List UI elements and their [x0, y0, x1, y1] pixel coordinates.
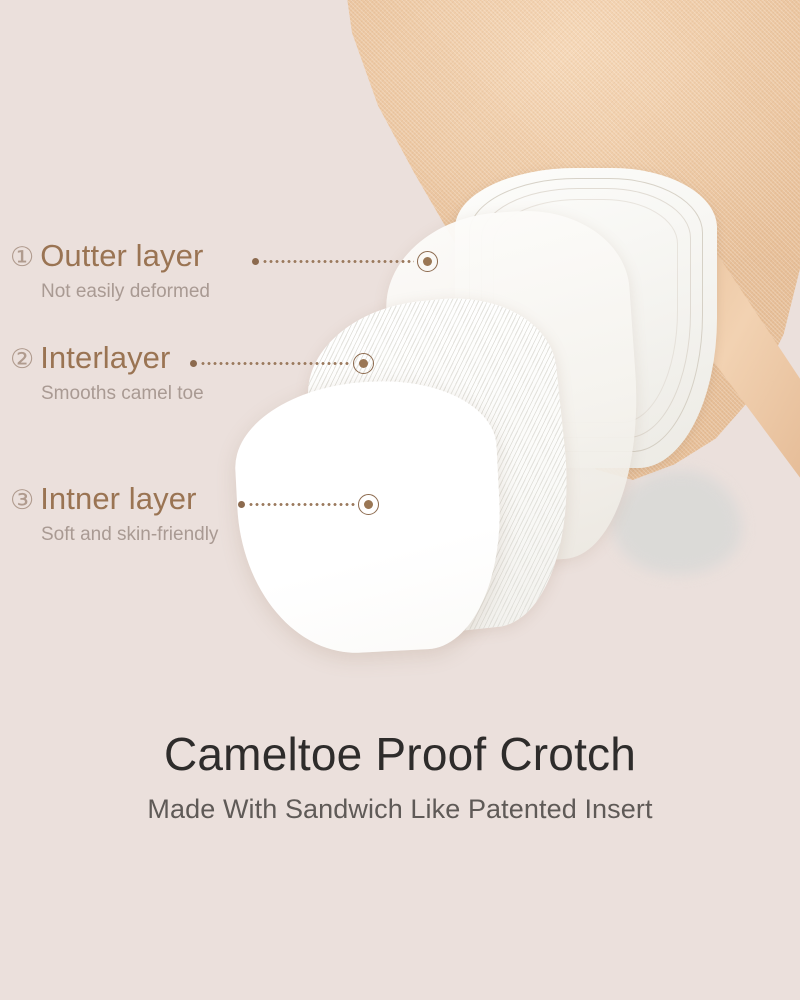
leader-line-interlayer [190, 355, 374, 371]
headline-block: Cameltoe Proof Crotch Made With Sandwich… [0, 728, 800, 825]
leader-line-inner-layer [238, 496, 379, 512]
leader-dotted-line [200, 362, 350, 365]
inner-layer-marker [358, 494, 379, 515]
callout-title-row: ③ Intner layer [10, 481, 218, 517]
interlayer-marker [353, 353, 374, 374]
callout-subtitle-1: Not easily deformed [41, 281, 210, 303]
page-subtitle: Made With Sandwich Like Patented Insert [0, 794, 800, 825]
callout-subtitle-3: Soft and skin-friendly [41, 524, 218, 546]
leader-line-outer-layer [252, 253, 438, 269]
inner-layer-panel [231, 375, 507, 658]
callout-inner-layer: ③ Intner layer Soft and skin-friendly [10, 481, 218, 546]
callout-subtitle-2: Smooths camel toe [41, 383, 204, 405]
callout-number-1: ① [10, 244, 34, 271]
outer-layer-marker [417, 251, 438, 272]
leader-dotted-line [262, 260, 414, 263]
callout-title-1: Outter layer [40, 238, 203, 274]
product-infographic: ① Outter layer Not easily deformed ② Int… [0, 0, 800, 1000]
callout-number-2: ② [10, 346, 34, 373]
callout-title-row: ② Interlayer [10, 340, 204, 376]
leader-dotted-line [248, 503, 355, 506]
callout-title-row: ① Outter layer [10, 238, 210, 274]
callout-interlayer: ② Interlayer Smooths camel toe [10, 340, 204, 405]
callout-title-3: Intner layer [40, 481, 196, 517]
leader-start-dot [238, 501, 245, 508]
inner-layer-sheet [231, 375, 507, 658]
callout-outer-layer: ① Outter layer Not easily deformed [10, 238, 210, 303]
page-title: Cameltoe Proof Crotch [0, 728, 800, 781]
leader-start-dot [252, 258, 259, 265]
callout-title-2: Interlayer [40, 340, 170, 376]
callout-number-3: ③ [10, 487, 34, 514]
